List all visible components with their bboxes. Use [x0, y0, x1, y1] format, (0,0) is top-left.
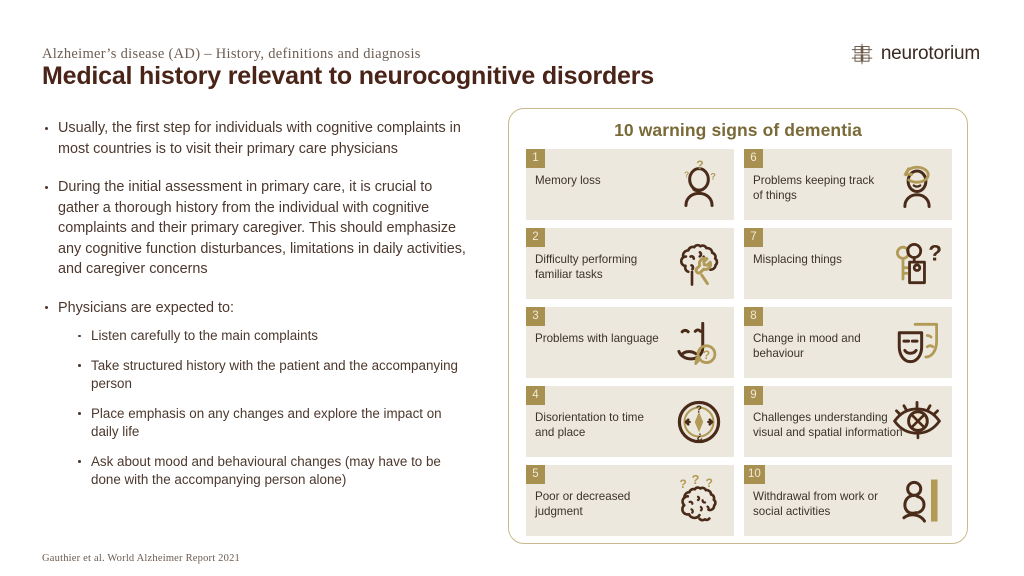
- card-number-badge: 8: [744, 307, 763, 326]
- neurotorium-grid-logo-icon: [850, 42, 874, 66]
- page-title: Medical history relevant to neurocogniti…: [42, 62, 654, 91]
- card-label: Misplacing things: [753, 253, 883, 268]
- card-number-badge: 2: [526, 228, 545, 247]
- card-number-badge: 7: [744, 228, 763, 247]
- card-label: Problems keeping track of things: [753, 174, 883, 203]
- card-number-badge: 6: [744, 149, 763, 168]
- head-question-marks-icon: ? ? ?: [670, 156, 728, 214]
- svg-text:?: ?: [696, 404, 702, 415]
- keys-question-icon: ?: [888, 235, 946, 293]
- warning-sign-card[interactable]: 7 Misplacing things ?: [744, 228, 952, 299]
- svg-text:?: ?: [692, 473, 700, 487]
- face-speech-bubble-question-icon: ?: [670, 314, 728, 372]
- warning-sign-card[interactable]: 2 Difficulty performing familiar tasks: [526, 228, 734, 299]
- compass-question-icon: ? ¿: [670, 393, 728, 451]
- card-label: Challenges understanding visual and spat…: [753, 411, 905, 440]
- bullet-item: Physicians are expected to: Listen caref…: [42, 298, 472, 490]
- svg-text:?: ?: [928, 240, 942, 265]
- person-withdrawn-icon: [888, 472, 946, 530]
- svg-text:?: ?: [679, 476, 686, 490]
- warning-sign-card[interactable]: 3 Problems with language ?: [526, 307, 734, 378]
- warning-sign-card[interactable]: 6 Problems keeping track of things: [744, 149, 952, 220]
- svg-text:?: ?: [710, 171, 716, 181]
- panel-title: 10 warning signs of dementia: [509, 120, 967, 141]
- card-label: Withdrawal from work or social activitie…: [753, 490, 883, 519]
- head-swirl-icon: [888, 156, 946, 214]
- brand-name: neurotorium: [881, 43, 980, 65]
- svg-text:¿: ¿: [697, 430, 703, 441]
- sub-bullet-item: Take structured history with the patient…: [76, 357, 472, 394]
- bullet-item: Usually, the first step for individuals …: [42, 118, 472, 159]
- bullet-item-label: Physicians are expected to:: [58, 300, 234, 316]
- svg-text:?: ?: [684, 169, 689, 179]
- sub-bullet-item: Listen carefully to the main complaints: [76, 327, 472, 346]
- card-number-badge: 1: [526, 149, 545, 168]
- sub-bullet-list: Listen carefully to the main complaints …: [58, 327, 472, 490]
- sub-bullet-item: Place emphasis on any changes and explor…: [76, 405, 472, 442]
- svg-text:?: ?: [706, 476, 713, 490]
- warning-sign-card[interactable]: 1 Memory loss ? ? ?: [526, 149, 734, 220]
- warning-sign-card[interactable]: 4 Disorientation to time and place ? ¿: [526, 386, 734, 457]
- card-number-badge: 9: [744, 386, 763, 405]
- card-label: Poor or decreased judgment: [535, 490, 665, 519]
- warning-sign-card[interactable]: 10 Withdrawal from work or social activi…: [744, 465, 952, 536]
- svg-text:?: ?: [696, 158, 703, 172]
- theatre-masks-icon: [888, 314, 946, 372]
- card-number-badge: 5: [526, 465, 545, 484]
- warning-signs-panel: 10 warning signs of dementia 1 Memory lo…: [508, 108, 968, 544]
- warning-sign-card[interactable]: 8 Change in mood and behaviour: [744, 307, 952, 378]
- card-number-badge: 10: [744, 465, 765, 484]
- warning-signs-grid: 1 Memory loss ? ? ? 6: [526, 149, 952, 536]
- card-label: Difficulty performing familiar tasks: [535, 253, 665, 282]
- warning-sign-card[interactable]: 5 Poor or decreased judgment ? ? ?: [526, 465, 734, 536]
- brain-question-marks-icon: ? ? ?: [670, 472, 728, 530]
- card-label: Problems with language: [535, 332, 665, 347]
- brand-logo: neurotorium: [850, 42, 980, 66]
- card-number-badge: 3: [526, 307, 545, 326]
- card-label: Memory loss: [535, 174, 665, 189]
- card-label: Change in mood and behaviour: [753, 332, 883, 361]
- content-bullet-list: Usually, the first step for individuals …: [42, 118, 472, 500]
- slide-eyebrow: Alzheimer’s disease (AD) – History, defi…: [42, 46, 421, 63]
- svg-text:?: ?: [703, 347, 710, 361]
- warning-sign-card[interactable]: 9 Challenges understanding visual and sp…: [744, 386, 952, 457]
- card-number-badge: 4: [526, 386, 545, 405]
- card-label: Disorientation to time and place: [535, 411, 665, 440]
- source-citation: Gauthier et al. World Alzheimer Report 2…: [42, 553, 240, 564]
- bullet-item: During the initial assessment in primary…: [42, 177, 472, 280]
- sub-bullet-item: Ask about mood and behavioural changes (…: [76, 453, 472, 490]
- brain-wrench-icon: [670, 235, 728, 293]
